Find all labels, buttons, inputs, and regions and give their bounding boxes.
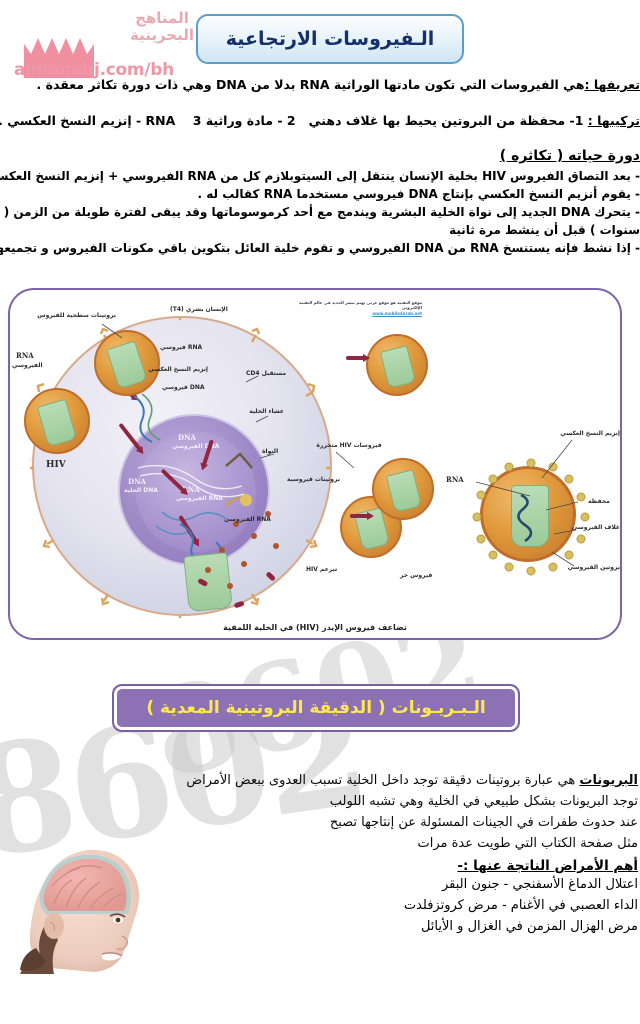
hiv-replication-diagram: موقع التقنية هو موقع عربي يهتم بنشر الجد… <box>8 288 622 640</box>
page-root: 8602 المناهج البحرينية almanahj.com/bh ا… <box>0 0 640 1024</box>
release-arrow-2 <box>350 514 370 518</box>
label-free-virus: فيروس حر <box>400 572 432 580</box>
label-viral-proteins: بروتينات فيروسية <box>294 476 340 484</box>
structure-item-2: 2 - مادة وراثية RNA <box>146 113 296 128</box>
prion-section-banner: الـبـريـونات ( الدقيقة البروتينية المعدي… <box>112 684 520 732</box>
disease-item: الداء العصبي في الأغنام - مرض كروتزفلدت <box>0 896 638 917</box>
prion-line-4: مثل صفحة الكتاب التي طويت عدة مرات <box>0 833 638 854</box>
watermark-arabic: المناهج البحرينية <box>130 10 194 45</box>
label-nucleus: النواة <box>262 448 278 456</box>
watermark-line1: المناهج <box>130 10 194 27</box>
lifecycle-step: - إذا نشط فإنه يستنسخ RNA من DNA الفيروس… <box>0 239 640 257</box>
diseases-heading: أهم الأمراض الناتجة عنها :- <box>0 858 638 874</box>
label-rna-viral-left: الفيروسي <box>12 362 43 370</box>
host-cell: DNA DNA الفيروسي DNA DNA الخلية RNA RNA … <box>32 316 332 616</box>
label-rna-left: RNA <box>16 352 34 361</box>
release-arrow-1 <box>346 356 366 360</box>
watermark-line2: البحرينية <box>130 27 194 44</box>
diagram-caption: تضاعف فيروس الإيدز (HIV) في الخلية اللمف… <box>10 623 620 632</box>
label-reverse-transcriptase: إنزيم النسخ العكسي <box>158 366 208 374</box>
disease-item: مرض الهزال المزمن في الغزال و الأيائل <box>0 917 638 938</box>
structure-line: تركيبها : 1- محفظة من البروتين يحيط بها … <box>0 112 640 130</box>
diagram-credit: موقع التقنية هو موقع عربي يهتم بنشر الجد… <box>299 300 422 316</box>
label-cell-membrane: غشاء الخلية <box>254 408 284 416</box>
label-rna-right: RNA <box>446 476 464 485</box>
prion-label: البريونات <box>579 773 638 788</box>
structure-label: تركيبها : <box>588 113 640 128</box>
lifecycle-step: - يتحرك DNA الجديد إلى نواة الخلية البشر… <box>0 203 640 221</box>
label-envelope: غلاف الفيروسي <box>582 524 620 532</box>
label-t4-cell: الإنسان بشري (T4) <box>170 306 228 314</box>
page-title: الـفيروسات الارتجاعية <box>226 28 435 50</box>
watermark-url: almanahj.com/bh <box>14 60 174 80</box>
virion-capsid <box>37 399 77 448</box>
virion-spikes <box>471 457 591 577</box>
label-dna-viral: DNA فيروسي <box>162 384 205 392</box>
prion-line-3: عند حدوث طفرات في الجينات المسئولة عن إن… <box>0 812 638 833</box>
prion-text-block: البريونات هي عبارة بروتينات دقيقة توجد د… <box>0 770 640 938</box>
label-rna-new: RNA الفيروسي <box>224 516 271 524</box>
prion-line-1: البريونات هي عبارة بروتينات دقيقة توجد د… <box>0 770 638 791</box>
label-rna-viral-2: RNA فيروسي <box>160 344 202 352</box>
prion-section-title: الـبـريـونات ( الدقيقة البروتينية المعدي… <box>146 698 485 718</box>
label-enzyme-rt: إنزيم النسخ العكسي <box>580 430 620 438</box>
label-protein: بروتين الفيروسي <box>582 564 620 572</box>
label-budding: تبرعم HIV <box>306 566 337 574</box>
virion-capsid <box>106 340 148 389</box>
hiv-virion-detailed <box>480 466 576 562</box>
disease-item: اعتلال الدماغ الأسفنجي - جنون البقر <box>0 875 638 896</box>
site-watermark: المناهج البحرينية almanahj.com/bh <box>8 8 198 86</box>
label-capsid: محفظة <box>588 498 610 506</box>
page-title-banner: الـفيروسات الارتجاعية <box>196 14 464 64</box>
label-mature-virions: فيروسات HIV متحررة <box>314 442 384 450</box>
label-cd4-receptor: مستقبل CD4 <box>246 370 286 378</box>
hiv-virion-released-1 <box>366 334 428 396</box>
definition-label: تعريفها : <box>584 77 640 92</box>
lifecycle-step: - يقوم أنزيم النسخ العكسي بإنتاج DNA فير… <box>0 185 640 203</box>
credit-link: www.mobile4arab.net <box>299 311 422 316</box>
prion-line-1-text: هي عبارة بروتينات دقيقة توجد داخل الخلية… <box>186 773 575 788</box>
viral-protein-dots <box>30 318 330 618</box>
lesson-text: تعريفها :هي الفيروسات التي تكون مادتها ا… <box>0 76 640 257</box>
hiv-virion-free <box>24 388 90 454</box>
structure-item-1: 1- محفظة من البروتين يحيط بها غلاف دهني <box>309 113 584 128</box>
hiv-virion-released-2 <box>372 458 434 520</box>
prion-line-2: توجد البريونات بشكل طبيعي في الخلية وهي … <box>0 791 638 812</box>
label-surface-proteins: بروتينات سطحية للفيروس <box>46 312 116 320</box>
lifecycle-heading: دورة حياته ( تكاثره ) <box>0 148 640 164</box>
label-hiv: HIV <box>46 460 66 471</box>
hiv-virion-attaching <box>94 330 160 396</box>
lifecycle-step: سنوات ) قبل أن ينشط مرة ثانية <box>0 221 640 239</box>
virion-capsid <box>386 469 422 513</box>
virion-capsid <box>380 345 416 389</box>
lifecycle-step: - بعد التصاق الفيروس HIV بخلية الإنسان ي… <box>0 167 640 185</box>
